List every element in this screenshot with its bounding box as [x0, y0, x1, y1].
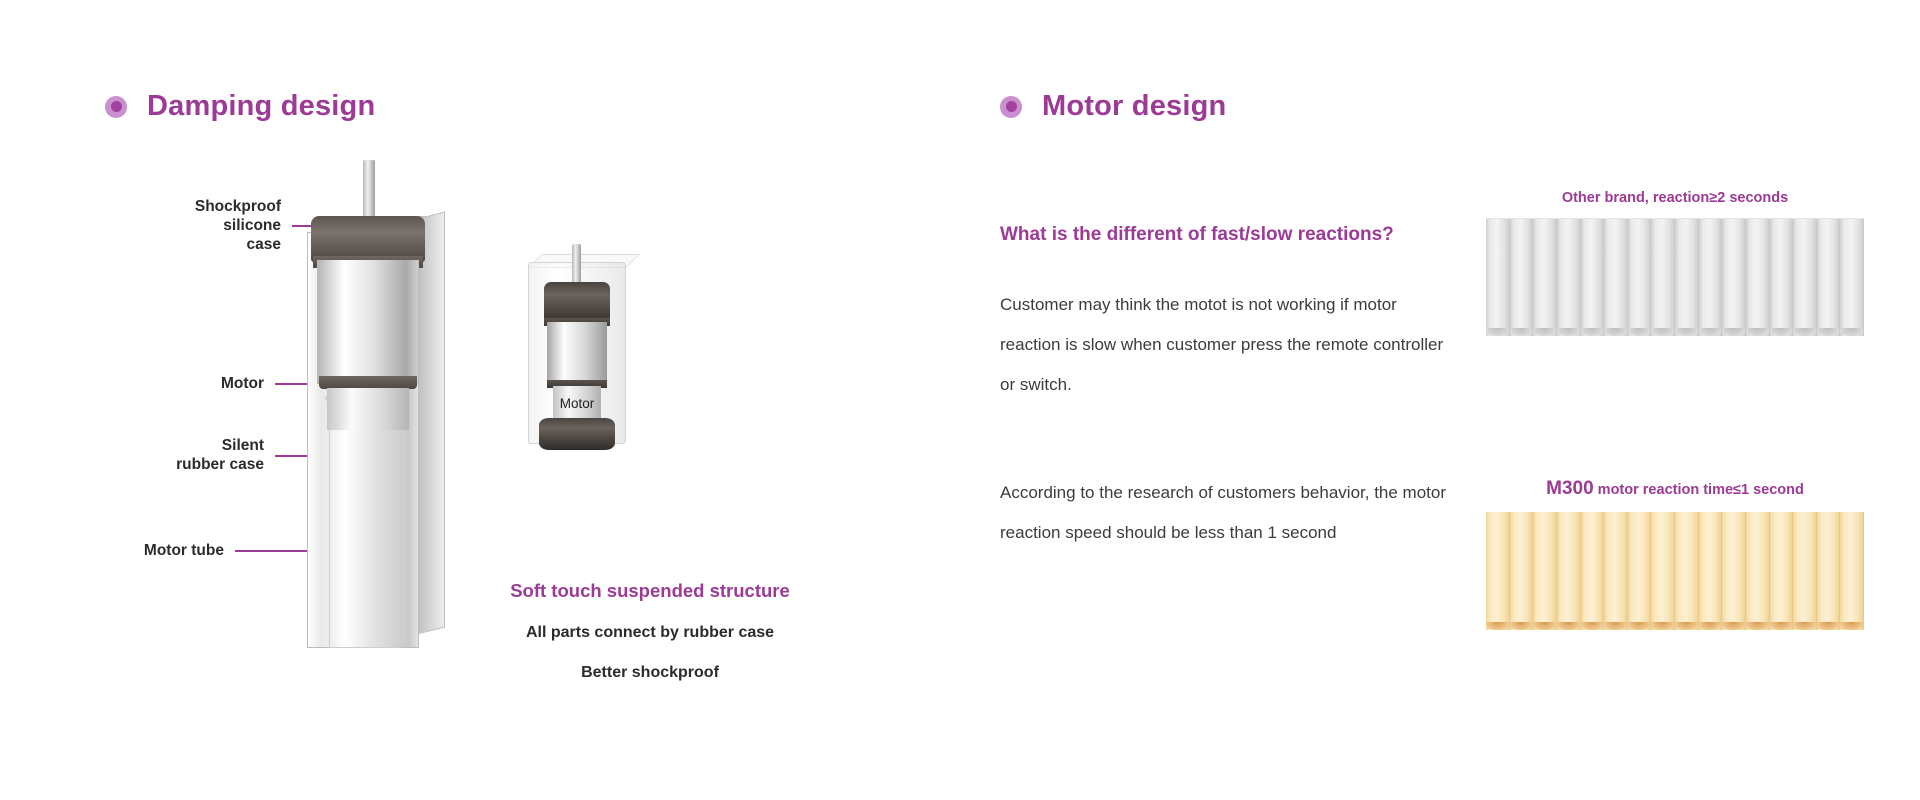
blind-slat — [1486, 219, 1510, 336]
blind-slat — [1840, 219, 1864, 336]
callout-label: Shockproof silicone case — [195, 198, 281, 255]
suspended-structure-caption: Soft touch suspended structure All parts… — [400, 580, 900, 704]
caption-line-1: All parts connect by rubber case — [400, 624, 900, 642]
case-side-face — [419, 212, 445, 634]
blind-slat — [1675, 219, 1699, 336]
blind-slat — [1746, 219, 1770, 336]
blind-slat — [1840, 512, 1864, 630]
motor-shaft-graphic — [572, 244, 581, 284]
blind-slat — [1604, 512, 1628, 630]
blind-slat — [1604, 219, 1628, 336]
blind-image-other-brand — [1486, 218, 1864, 336]
comparison-m300: M300 motor reaction time≤1 second — [1486, 478, 1864, 630]
blind-slat — [1699, 512, 1723, 630]
section-title-motor: Motor design — [1042, 90, 1226, 123]
blind-slat — [1628, 512, 1652, 630]
motor-tube-graphic — [329, 398, 401, 648]
section-heading-motor: Motor design — [1000, 90, 1226, 123]
blind-slat — [1651, 512, 1675, 630]
bullet-dot-icon — [105, 96, 127, 118]
strip-caption-m300: M300 motor reaction time≤1 second — [1486, 478, 1864, 500]
blind-slat — [1486, 512, 1510, 630]
motor-design-paragraph-2: According to the research of customers b… — [1000, 473, 1450, 553]
rubber-foot-graphic — [539, 418, 615, 450]
blind-slat — [1699, 219, 1723, 336]
motor-gearbox-graphic — [327, 388, 409, 430]
blind-slat — [1770, 512, 1794, 630]
blind-slat — [1533, 512, 1557, 630]
caption-line-2: Better shockproof — [400, 664, 900, 682]
strip-caption-other-brand: Other brand, reaction≥2 seconds — [1486, 190, 1864, 206]
callout-label: Motor tube — [144, 542, 224, 561]
blind-slat — [1722, 219, 1746, 336]
suspended-structure-diagram: Motor — [520, 250, 780, 470]
motor-body-graphic — [317, 260, 419, 384]
section-heading-damping: Damping design — [105, 90, 375, 123]
callout-label: Silent rubber case — [176, 437, 264, 475]
caption-title: Soft touch suspended structure — [400, 580, 900, 602]
strip-caption-m300-model: M300 — [1546, 478, 1594, 499]
blind-slat — [1581, 512, 1605, 630]
blind-slat — [1675, 512, 1699, 630]
blind-slat — [1628, 219, 1652, 336]
blind-slat — [1793, 512, 1817, 630]
blind-slat — [1722, 512, 1746, 630]
slide-canvas: Damping design Motor design Shockproof s… — [0, 0, 1920, 800]
blind-slat — [1510, 512, 1534, 630]
blind-slat — [1770, 219, 1794, 336]
comparison-other-brand: Other brand, reaction≥2 seconds — [1486, 190, 1864, 336]
blind-slat — [1817, 219, 1841, 336]
bullet-dot-icon — [1000, 96, 1022, 118]
blind-slat — [1581, 219, 1605, 336]
motor-body-graphic — [547, 322, 607, 384]
motor-label-plate: Motor — [553, 386, 601, 420]
blind-slat — [1746, 512, 1770, 630]
section-title-damping: Damping design — [147, 90, 375, 123]
motor-design-question: What is the different of fast/slow react… — [1000, 222, 1450, 247]
blind-slat — [1533, 219, 1557, 336]
strip-caption-m300-rest: motor reaction time≤1 second — [1594, 482, 1804, 498]
motor-label-text: Motor — [560, 396, 595, 411]
blind-slat — [1557, 219, 1581, 336]
callout-label: Motor — [221, 375, 264, 394]
blind-slat — [1510, 219, 1534, 336]
motor-shaft-graphic — [363, 160, 375, 218]
blind-slat — [1817, 512, 1841, 630]
blind-slat — [1557, 512, 1581, 630]
motor-design-text-block: What is the different of fast/slow react… — [1000, 222, 1450, 553]
blind-slat — [1651, 219, 1675, 336]
blind-slat — [1793, 219, 1817, 336]
blind-image-m300 — [1486, 512, 1864, 630]
motor-design-paragraph-1: Customer may think the motot is not work… — [1000, 285, 1450, 405]
